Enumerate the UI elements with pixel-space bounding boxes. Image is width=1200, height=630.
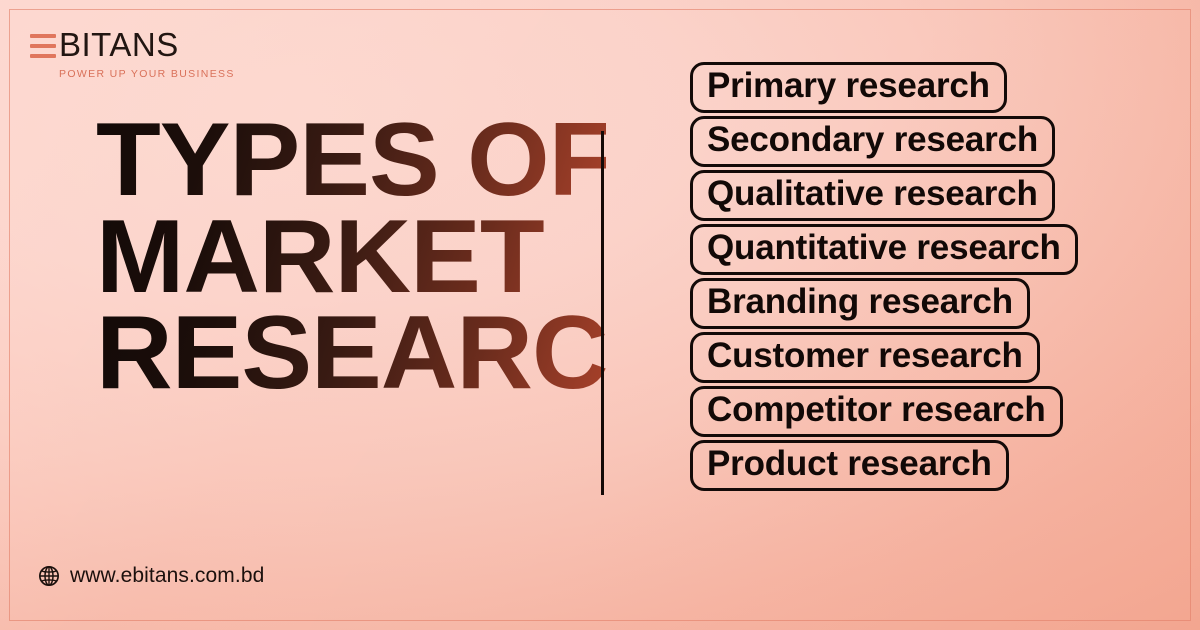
- list-item[interactable]: Secondary research: [690, 116, 1055, 167]
- list-item[interactable]: Primary research: [690, 62, 1007, 113]
- globe-icon: [38, 565, 60, 587]
- list-item-label: Product research: [707, 446, 992, 482]
- research-types-list: Primary research Secondary research Qual…: [690, 62, 1078, 491]
- page-title: TYPES OF MARKET RESEARCH: [96, 112, 596, 402]
- list-item[interactable]: Branding research: [690, 278, 1030, 329]
- list-item[interactable]: Competitor research: [690, 386, 1063, 437]
- poster-canvas: BITANS POWER UP YOUR BUSINESS TYPES OF M…: [0, 0, 1200, 630]
- list-item[interactable]: Product research: [690, 440, 1009, 491]
- list-item-label: Primary research: [707, 68, 990, 104]
- brand-tagline: POWER UP YOUR BUSINESS: [59, 68, 235, 80]
- brand-logo[interactable]: BITANS POWER UP YOUR BUSINESS: [30, 28, 235, 80]
- list-item-label: Competitor research: [707, 392, 1046, 428]
- list-item[interactable]: Customer research: [690, 332, 1040, 383]
- list-item-label: Qualitative research: [707, 176, 1038, 212]
- list-item-label: Branding research: [707, 284, 1013, 320]
- page-title-line-3: RESEARCH: [96, 305, 606, 402]
- list-item-label: Customer research: [707, 338, 1023, 374]
- brand-name: BITANS: [59, 28, 235, 61]
- vertical-divider: [601, 131, 604, 495]
- page-title-line-2: MARKET: [96, 209, 606, 306]
- page-title-line-1: TYPES OF: [96, 112, 606, 209]
- list-item[interactable]: Quantitative research: [690, 224, 1078, 275]
- list-item[interactable]: Qualitative research: [690, 170, 1055, 221]
- footer-url-text: www.ebitans.com.bd: [70, 564, 264, 588]
- list-item-label: Quantitative research: [707, 230, 1061, 266]
- e-bars-icon: [30, 34, 56, 58]
- list-item-label: Secondary research: [707, 122, 1038, 158]
- brand-logo-text: BITANS POWER UP YOUR BUSINESS: [59, 28, 235, 80]
- footer-website[interactable]: www.ebitans.com.bd: [38, 564, 264, 588]
